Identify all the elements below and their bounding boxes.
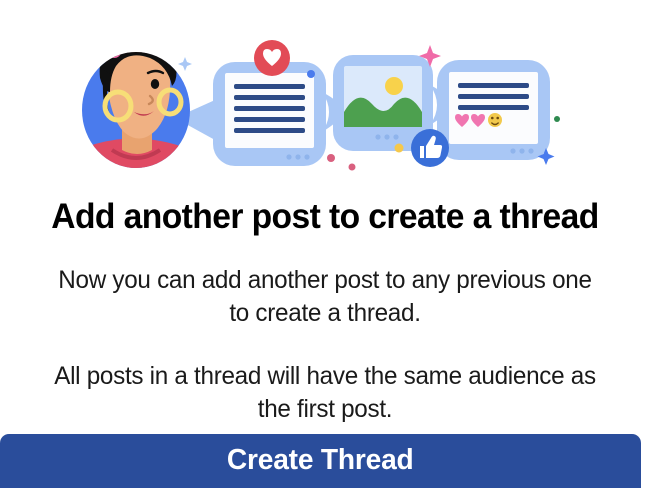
- thread-illustration: [0, 0, 650, 195]
- create-thread-button[interactable]: Create Thread: [0, 434, 641, 488]
- avatar: [78, 19, 196, 172]
- promo-paragraph-2: All posts in a thread will have the same…: [10, 360, 641, 426]
- promo-text-area: Add another post to create a thread Now …: [0, 196, 650, 426]
- post-card-text: [213, 62, 326, 166]
- create-thread-promo-screen: Add another post to create a thread Now …: [0, 0, 650, 488]
- dot-pink-icon: [349, 164, 356, 171]
- post-text-lines: [458, 83, 529, 110]
- heart-reaction-badge-icon: [254, 40, 290, 76]
- promo-paragraph-1: Now you can add another post to any prev…: [10, 264, 641, 330]
- dot-green-icon: [554, 116, 560, 122]
- sparkle-lightblue-icon: [178, 57, 192, 71]
- page-title: Add another post to create a thread: [13, 196, 637, 238]
- dot-blue-icon: [307, 70, 315, 78]
- create-thread-button-label: Create Thread: [227, 446, 414, 475]
- dot-yellow-icon: [395, 144, 404, 153]
- thumbs-up-badge-icon: [411, 129, 449, 167]
- dot-pink-icon: [327, 154, 335, 162]
- post-card-reactions: [437, 60, 550, 160]
- reactions-overflow-dots-icon: [510, 148, 533, 153]
- photo-overflow-dots-icon: [375, 134, 398, 139]
- post-overflow-dots-icon: [286, 154, 309, 159]
